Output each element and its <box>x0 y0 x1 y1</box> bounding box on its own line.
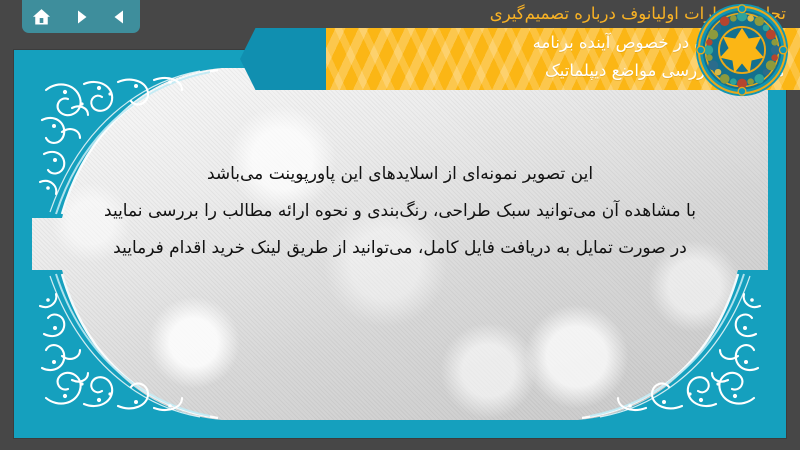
forward-arrow-icon <box>73 9 89 25</box>
arabesque-ornament-bottom-right-icon <box>578 270 768 420</box>
navigation-toolbar <box>22 0 140 33</box>
body-line-3: در صورت تمایل به دریافت فایل کامل، می‌تو… <box>58 230 742 267</box>
body-line-2: با مشاهده آن می‌توانید سبک طراحی، رنگ‌بن… <box>58 193 742 230</box>
arabesque-ornament-bottom-left-icon <box>32 270 222 420</box>
slide-content-area: این تصویر نمونه‌ای از اسلایدهای این پاور… <box>32 68 768 420</box>
back-button[interactable] <box>105 3 135 31</box>
slide-body-text: این تصویر نمونه‌ای از اسلایدهای این پاور… <box>58 156 742 267</box>
back-arrow-icon <box>112 9 128 25</box>
home-button[interactable] <box>27 3 57 31</box>
banner-arrow-connector <box>240 28 326 90</box>
body-line-1: این تصویر نمونه‌ای از اسلایدهای این پاور… <box>58 156 742 193</box>
islamic-medallion-icon <box>694 2 790 98</box>
slide-frame: این تصویر نمونه‌ای از اسلایدهای این پاور… <box>14 50 786 438</box>
home-icon <box>32 8 51 26</box>
slide-viewer: تحلیل اظهارات اولیانوف درباره تصمیم‌گیری… <box>0 0 800 450</box>
forward-button[interactable] <box>66 3 96 31</box>
